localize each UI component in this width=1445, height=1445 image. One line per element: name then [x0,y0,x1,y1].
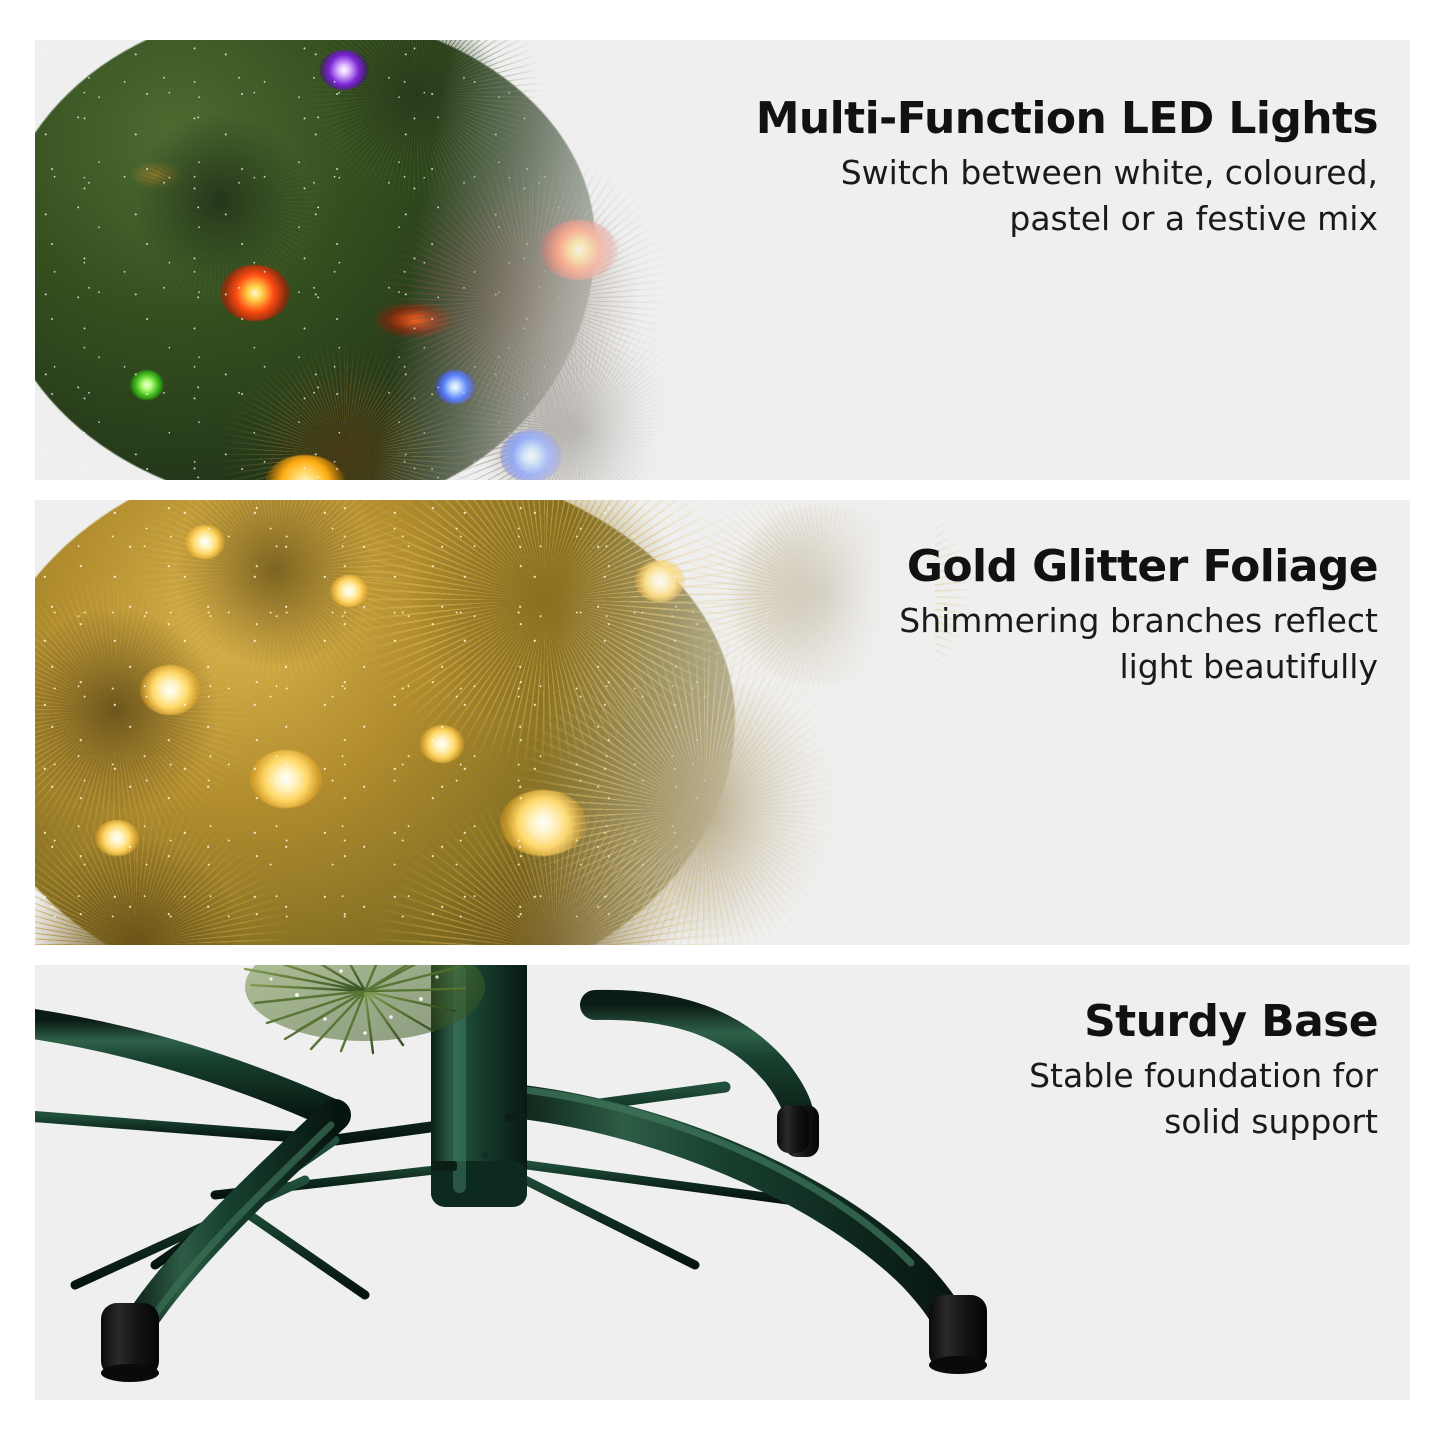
tree-stand-photo [35,965,1035,1400]
feature-panel-gold-glitter: Gold Glitter Foliage Shimmering branches… [35,500,1410,945]
led-lights-text-block: Multi-Function LED Lights Switch between… [756,92,1378,242]
panel-title-gold-glitter: Gold Glitter Foliage [899,540,1378,594]
feature-panel-sturdy-base: Sturdy Base Stable foundation for solid … [35,965,1410,1400]
gold-glitter-text-block: Gold Glitter Foliage Shimmering branches… [899,540,1378,690]
subtitle-line: solid support [1029,1099,1378,1145]
panel-title-led-lights: Multi-Function LED Lights [756,92,1378,146]
panel-subtitle-led-lights: Switch between white, coloured, pastel o… [756,150,1378,242]
photo-fade-edge [35,500,935,945]
led-lights-photo [35,40,755,480]
photo-fade-edge [35,40,755,480]
panel-title-sturdy-base: Sturdy Base [1029,995,1378,1049]
subtitle-line: pastel or a festive mix [756,196,1378,242]
gold-glitter-photo [35,500,935,945]
panel-subtitle-sturdy-base: Stable foundation for solid support [1029,1053,1378,1145]
subtitle-line: Stable foundation for [1029,1053,1378,1099]
panel-subtitle-gold-glitter: Shimmering branches reflect light beauti… [899,598,1378,690]
sturdy-base-text-block: Sturdy Base Stable foundation for solid … [1029,995,1378,1145]
subtitle-line: Shimmering branches reflect [899,598,1378,644]
subtitle-line: light beautifully [899,644,1378,690]
subtitle-line: Switch between white, coloured, [756,150,1378,196]
product-feature-infographic: Multi-Function LED Lights Switch between… [0,0,1445,1445]
feature-panel-led-lights: Multi-Function LED Lights Switch between… [35,40,1410,480]
